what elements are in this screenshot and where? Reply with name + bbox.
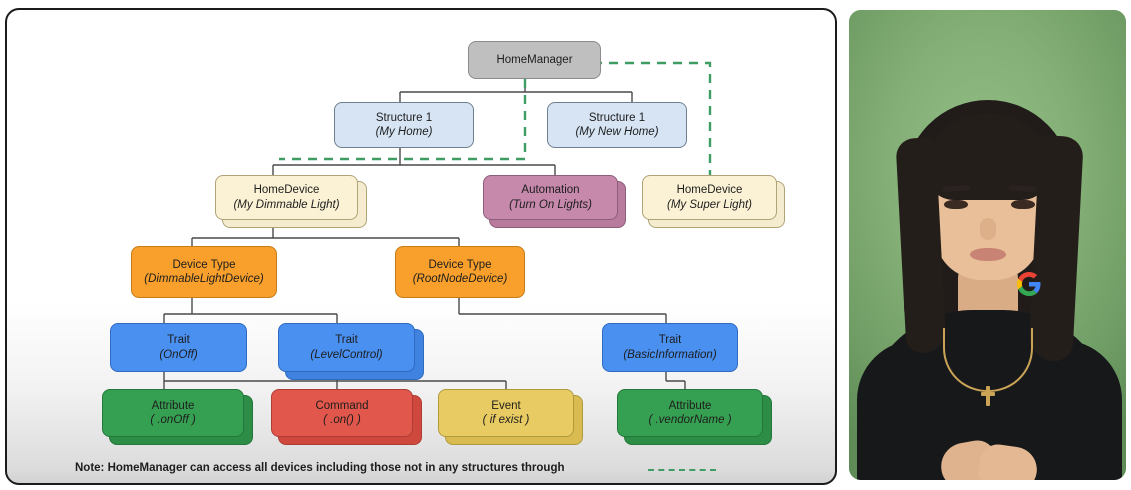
node-homedevice-dimmable[interactable]: HomeDevice (My Dimmable Light) xyxy=(215,175,358,220)
dashed-line-legend xyxy=(648,469,716,471)
screenshot-root: HomeManager Structure 1 (My Home) Struct… xyxy=(0,0,1131,490)
node-label-line2: (BasicInformation) xyxy=(623,348,716,362)
node-trait-basicinformation[interactable]: Trait (BasicInformation) xyxy=(602,323,738,372)
node-label-line2: ( .vendorName ) xyxy=(648,413,731,427)
node-label-line1: Structure 1 xyxy=(376,111,432,125)
node-automation[interactable]: Automation (Turn On Lights) xyxy=(483,175,618,220)
node-label-line1: HomeDevice xyxy=(677,183,743,197)
node-label-line1: Trait xyxy=(167,333,190,347)
node-label-line2: ( if exist ) xyxy=(483,413,530,427)
node-label-line2: ( .onOff ) xyxy=(150,413,195,427)
node-devicetype-rootnode[interactable]: Device Type (RootNodeDevice) xyxy=(395,246,525,298)
node-label-line1: Trait xyxy=(659,333,682,347)
cross-pendant xyxy=(986,386,990,406)
node-devicetype-dimmable[interactable]: Device Type (DimmableLightDevice) xyxy=(131,246,277,298)
node-label-line1: Device Type xyxy=(172,258,235,272)
node-homemanager[interactable]: HomeManager xyxy=(468,41,601,79)
node-label-line2: (RootNodeDevice) xyxy=(413,272,508,286)
node-label-line1: Device Type xyxy=(428,258,491,272)
google-g-logo xyxy=(1017,272,1041,296)
mouth xyxy=(970,248,1006,261)
node-event-ifexist[interactable]: Event ( if exist ) xyxy=(438,389,574,437)
node-label-line1: Attribute xyxy=(152,399,195,413)
node-label-line2: (My Dimmable Light) xyxy=(233,198,339,212)
node-attribute-vendorname[interactable]: Attribute ( .vendorName ) xyxy=(617,389,763,437)
object-model-diagram: HomeManager Structure 1 (My Home) Struct… xyxy=(7,10,831,479)
node-command-on[interactable]: Command ( .on() ) xyxy=(271,389,413,437)
node-label-line2: (DimmableLightDevice) xyxy=(144,272,264,286)
node-label-line2: (My New Home) xyxy=(575,125,658,139)
nose xyxy=(980,218,996,240)
diagram-note: Note: HomeManager can access all devices… xyxy=(75,462,565,474)
node-attribute-onoff[interactable]: Attribute ( .onOff ) xyxy=(102,389,244,437)
cross-pendant-bar xyxy=(981,392,995,396)
node-label-line2: (LevelControl) xyxy=(310,348,382,362)
node-trait-levelcontrol[interactable]: Trait (LevelControl) xyxy=(278,323,415,372)
eye-left xyxy=(944,200,968,209)
node-label-line2: (Turn On Lights) xyxy=(509,198,592,212)
eye-right xyxy=(1011,200,1035,209)
node-label-line2: (My Home) xyxy=(376,125,433,139)
node-label-line1: Trait xyxy=(335,333,358,347)
node-label-line1: Event xyxy=(491,399,520,413)
node-label-line2: ( .on() ) xyxy=(323,413,361,427)
node-label-line2: (OnOff) xyxy=(159,348,197,362)
node-trait-onoff[interactable]: Trait (OnOff) xyxy=(110,323,247,372)
slide-panel: HomeManager Structure 1 (My Home) Struct… xyxy=(5,8,837,485)
presenter-video-panel[interactable] xyxy=(849,10,1126,480)
node-label-line2: (My Super Light) xyxy=(667,198,752,212)
node-structure-my-new-home[interactable]: Structure 1 (My New Home) xyxy=(547,102,687,148)
node-label-line1: HomeDevice xyxy=(254,183,320,197)
node-label-line1: Command xyxy=(315,399,368,413)
node-label-line1: Structure 1 xyxy=(589,111,645,125)
node-label-line1: HomeManager xyxy=(496,53,572,67)
node-label-line1: Attribute xyxy=(669,399,712,413)
node-homedevice-super[interactable]: HomeDevice (My Super Light) xyxy=(642,175,777,220)
node-label-line1: Automation xyxy=(521,183,579,197)
node-structure-my-home[interactable]: Structure 1 (My Home) xyxy=(334,102,474,148)
